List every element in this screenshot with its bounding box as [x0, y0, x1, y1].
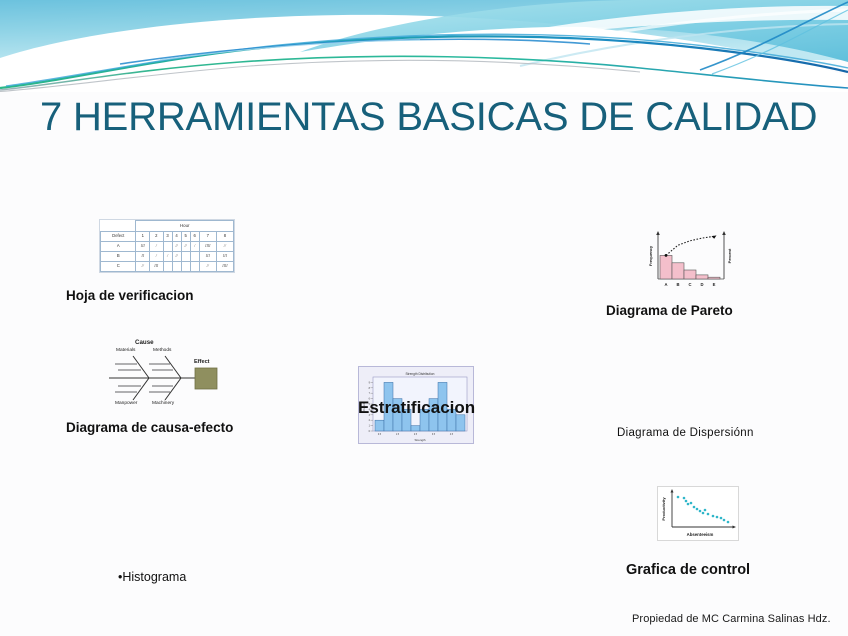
cell: // [216, 241, 233, 251]
svg-text:Absenteeism: Absenteeism [687, 532, 714, 537]
table-row: C // III // IIII [101, 261, 234, 271]
svg-text:Percent: Percent [727, 248, 732, 263]
cell [163, 241, 172, 251]
cell: III [199, 251, 216, 261]
col-header-4: 4 [172, 231, 181, 241]
col-header-7: 7 [199, 231, 216, 241]
col-header-3: 3 [163, 231, 172, 241]
fishbone-title: Cause [135, 339, 154, 346]
check-sheet-table: Hour Defect 1 2 3 4 5 6 7 8 A III / // /… [100, 220, 234, 272]
cell: // [136, 261, 150, 271]
col-header-8: 8 [216, 231, 233, 241]
cell: IIII [216, 261, 233, 271]
cell: / [150, 251, 164, 261]
table-row: Hour [101, 221, 234, 232]
cell: IIII [199, 241, 216, 251]
svg-text:Productivity: Productivity [661, 497, 666, 521]
col-header-2: 2 [150, 231, 164, 241]
fishbone-bone-materials: Materials [116, 348, 135, 353]
cell [190, 251, 199, 261]
col-header-1: 1 [136, 231, 150, 241]
cell: // [181, 241, 190, 251]
pareto-caption: Diagrama de Pareto [606, 303, 733, 318]
cell: / [163, 251, 172, 261]
cell: // [172, 241, 181, 251]
scatter-caption: Diagrama de Dispersiónn [617, 427, 754, 439]
svg-text:E: E [713, 282, 716, 287]
svg-text:Frequency: Frequency [648, 245, 653, 266]
scatter-plot: Productivity Absenteeism [658, 487, 739, 541]
svg-text:C: C [688, 282, 691, 287]
cell [190, 261, 199, 271]
cell: III [150, 261, 164, 271]
svg-text:Strength Distribution: Strength Distribution [406, 372, 435, 376]
svg-text:D: D [700, 282, 703, 287]
cell [172, 261, 181, 271]
pareto-chart: ABC DE Frequency Percent [632, 229, 740, 291]
pareto-thumbnail: ABC DE Frequency Percent [632, 229, 740, 291]
footer-credit: Propiedad de MC Carmina Salinas Hdz. [632, 613, 831, 625]
table-row: A III / // // / IIII // [101, 241, 234, 251]
fishbone-bone-methods: Methods [153, 348, 171, 353]
row-label-c: C [101, 261, 136, 271]
slide-canvas: 7 HERRAMIENTAS BASICAS DE CALIDAD Hour D… [0, 0, 848, 636]
cell [181, 261, 190, 271]
col-header-5: 5 [181, 231, 190, 241]
check-sheet-thumbnail: Hour Defect 1 2 3 4 5 6 7 8 A III / // /… [99, 219, 235, 273]
svg-text:B: B [676, 282, 679, 287]
histogram-caption: •Histograma [118, 570, 186, 584]
svg-text:A: A [664, 282, 667, 287]
header-banner-graphic [0, 0, 848, 92]
cell: III [216, 251, 233, 261]
cell: / [190, 241, 199, 251]
cell [181, 251, 190, 261]
row-label-b: B [101, 251, 136, 261]
fishbone-effect-label: Effect [194, 359, 210, 365]
col-header-6: 6 [190, 231, 199, 241]
scatter-thumbnail: Productivity Absenteeism [657, 486, 739, 541]
col-header-defect: Defect [101, 231, 136, 241]
cause-effect-thumbnail: Cause Materials Methods Manpower Machine… [103, 338, 233, 410]
stratification-caption: Estratificacion [358, 398, 475, 418]
svg-text:Strength: Strength [415, 438, 426, 442]
page-title: 7 HERRAMIENTAS BASICAS DE CALIDAD [40, 95, 820, 140]
cell: / [150, 241, 164, 251]
cell: III [136, 241, 150, 251]
check-sheet-group-header: Hour [136, 221, 234, 232]
cell: // [199, 261, 216, 271]
table-row: B II / / // III III [101, 251, 234, 261]
cell: II [136, 251, 150, 261]
table-row: Defect 1 2 3 4 5 6 7 8 [101, 231, 234, 241]
fishbone-bone-manpower: Manpower [115, 401, 137, 406]
check-sheet-caption: Hoja de verificacion [66, 288, 194, 303]
cause-effect-caption: Diagrama de causa-efecto [66, 420, 233, 435]
cell [163, 261, 172, 271]
fishbone-bone-machinery: Machinery [152, 401, 174, 406]
control-chart-caption: Grafica de control [626, 562, 750, 578]
cell: // [172, 251, 181, 261]
row-label-a: A [101, 241, 136, 251]
